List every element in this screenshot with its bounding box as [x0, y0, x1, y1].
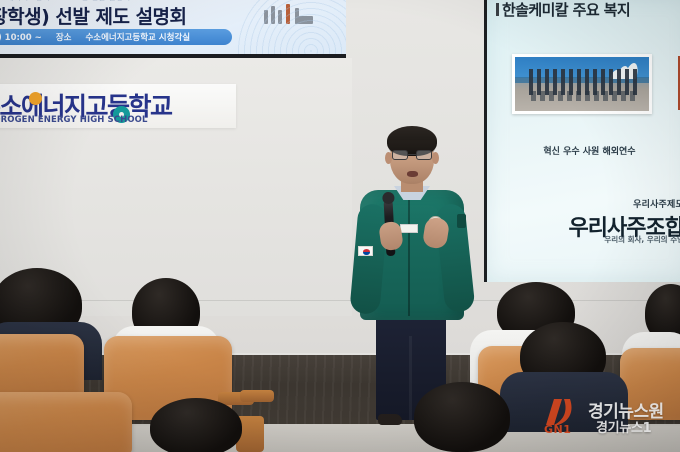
- slide-title-bullet-icon: [496, 3, 499, 16]
- speaker-ear-right: [432, 152, 439, 164]
- seat-armrest: [240, 390, 274, 402]
- slide-photo-caption: 혁신 우수 사원 해외연수: [487, 144, 680, 157]
- pill-place-label: 장소: [56, 31, 72, 43]
- speaker-shoe-left: [378, 414, 402, 425]
- audience-seat: [0, 392, 132, 452]
- right-projection-screen: 한솔케미칼 주요 복지 혁신 우수 사원 해외연수 우리사주제도 우리사주조합 …: [487, 0, 680, 282]
- speaker-jacket-zipper: [408, 198, 410, 316]
- audience-head: [414, 382, 510, 452]
- audience-seat: [0, 334, 84, 398]
- slide-subtitle: 우리사주제도: [487, 197, 680, 210]
- bar-chart-logo-icon: [264, 2, 320, 24]
- slide-photo-overseas-training: [512, 54, 652, 114]
- speaker-mouth: [407, 171, 418, 177]
- korean-flag-patch-icon: [358, 246, 373, 256]
- left-screen-bottom-frame: [0, 54, 346, 58]
- photo-group-shadows: [531, 91, 639, 101]
- speaker-figure: [352, 118, 470, 428]
- left-projection-screen: 수소에너지고등학교 2025년 선발 설명회 (장학생) 선발 제도 설명회 수…: [0, 0, 346, 56]
- banner-orange-dot-icon: [29, 92, 42, 105]
- slide-tagline: 우리의 회사, 우리의 주인: [487, 234, 680, 245]
- watermark: GN1 경기뉴스원 경기뉴스1: [540, 395, 680, 443]
- watermark-logo-text: GN1: [544, 423, 571, 436]
- speaker-sleeve-tab: [457, 214, 466, 228]
- school-banner-english: HYDROGEN ENERGY HIGH SCHOOL: [0, 115, 148, 125]
- speaker-name-badge: [400, 224, 418, 233]
- slide-title: 한솔케미칼 주요 복지: [502, 0, 630, 20]
- audience-head-foreground: [150, 398, 242, 452]
- pill-place-value: 수소에너지고등학교 시청각실: [85, 31, 190, 43]
- watermark-line2: 경기뉴스1: [596, 417, 651, 436]
- left-screen-info-pill: 수) 10:00 ~ 장소 수소에너지고등학교 시청각실: [0, 29, 232, 45]
- school-banner: 수소에너지고등학교 HYDROGEN ENERGY HIGH SCHOOL: [0, 84, 236, 128]
- speaker-ear-left: [385, 152, 392, 164]
- left-screen-title: (장학생) 선발 제도 설명회: [0, 2, 282, 29]
- photo-canvas: 수소에너지고등학교 2025년 선발 설명회 (장학생) 선발 제도 설명회 수…: [0, 0, 680, 452]
- pill-time: 수) 10:00 ~: [0, 31, 42, 43]
- eyeglasses-icon: [392, 150, 432, 160]
